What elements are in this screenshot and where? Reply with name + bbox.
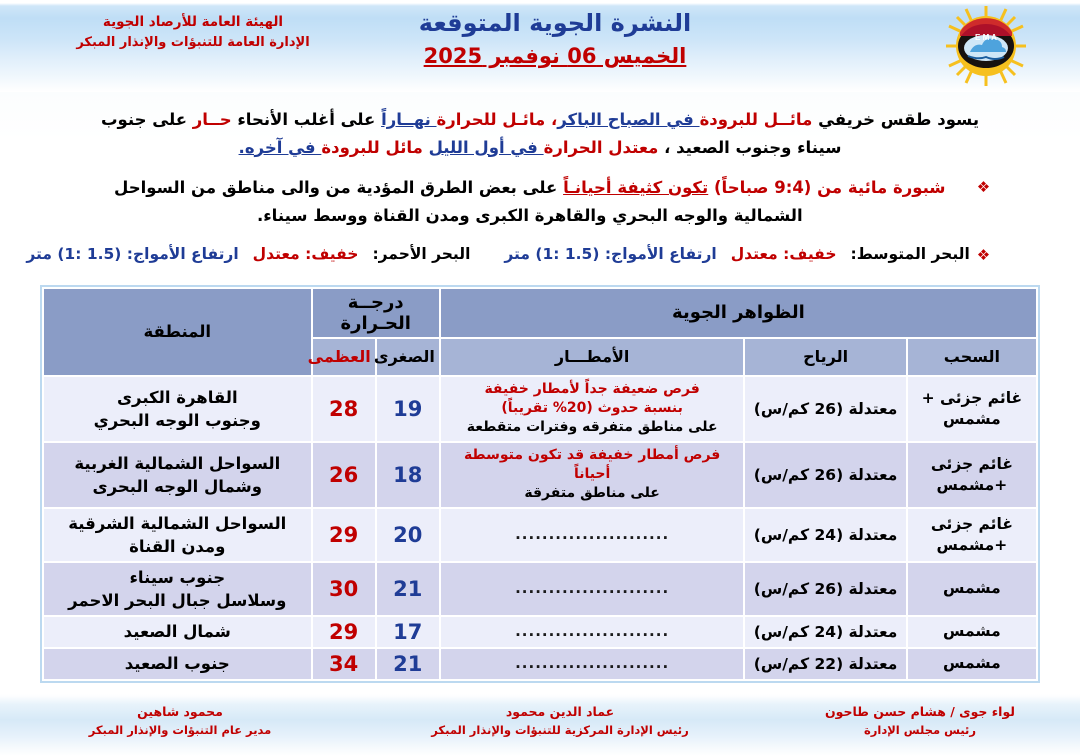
region-line-2: ومدن القناة (129, 537, 225, 556)
header-temperature: درجــة الحـرارة (313, 289, 439, 337)
cell-max-temp: 26 (313, 443, 375, 507)
gen-seg-12: في آخره. (239, 138, 322, 157)
gen-seg-4: ، مائـل للحرارة (437, 110, 558, 129)
central-head-name: عماد الدين محمود (395, 703, 725, 722)
region-line-1: جنوب سيناء (129, 568, 225, 587)
rain-line-2: بنسبة حدوث (20% تقريباً) (445, 399, 740, 418)
gen-seg-10: في أول الليل (429, 138, 544, 157)
cell-region: القاهرة الكبرى وجنوب الوجه البحري (44, 377, 311, 441)
gen-seg-1: يسود طقس خريفي (812, 110, 979, 129)
cell-wind: معتدلة (26 كم/س) (745, 377, 905, 441)
med-sea-state: خفيف: معتدل (731, 245, 837, 263)
region-line-1: القاهرة الكبرى (117, 388, 238, 407)
cell-region: جنوب الصعيد (44, 649, 311, 679)
red-wave-label: ارتفاع الأمواج: (127, 245, 239, 263)
header-min-temp: الصغرى (377, 339, 439, 375)
region-line-1: شمال الصعيد (124, 622, 231, 641)
region-line-2: وشمال الوجه البحرى (93, 477, 263, 496)
cell-clouds: غائم جزئى +مشمس (908, 509, 1036, 561)
gen-seg-3: في الصباح الباكر (557, 110, 699, 129)
header-max-temp: العظمى (313, 339, 375, 375)
rain-dots: ....................... (515, 622, 669, 640)
table-row: غائم جزئى +مشمس معتدلة (26 كم/س) فرص أمط… (44, 443, 1036, 507)
header-clouds: السحب (908, 339, 1036, 375)
table-row: غائم جزئى + مشمس معتدلة (26 كم/س) فرص ضع… (44, 377, 1036, 441)
organization-block: الهيئة العامة للأرصاد الجوية الإدارة الع… (48, 12, 338, 53)
cell-rain: فرص أمطار خفيفة قد تكون متوسطة أحياناً ع… (441, 443, 744, 507)
med-wave-value: (1.5 :1) متر (504, 245, 599, 263)
page-title: النشرة الجوية المتوقعة (390, 8, 720, 39)
rain-line-1: فرص أمطار خفيفة قد تكون متوسطة أحياناً (445, 446, 740, 485)
gen-seg-9: معتدل الحرارة (544, 138, 659, 157)
cell-clouds: غائم جزئى +مشمس (908, 443, 1036, 507)
cell-wind: معتدلة (22 كم/س) (745, 649, 905, 679)
rain-line-1: فرص ضعيفة جداً لأمطار خفيفة (445, 380, 740, 399)
cell-region: جنوب سيناء وسلاسل جبال البحر الاحمر (44, 563, 311, 615)
clouds-line-2: مشمس (943, 410, 1001, 428)
med-wave-label: ارتفاع الأمواج: (605, 245, 717, 263)
cell-region: شمال الصعيد (44, 617, 311, 647)
general-forecast-paragraph: يسود طقس خريفي مائــل للبرودة في الصباح … (96, 106, 984, 161)
region-line-1: السواحل الشمالية الشرقية (68, 514, 286, 533)
fog-seg-1: شبورة مائية من (9:4 صباحاً) (708, 178, 945, 197)
header-wind: الرياح (745, 339, 905, 375)
cell-max-temp: 28 (313, 377, 375, 441)
clouds-line-1: غائم جزئى + (922, 389, 1022, 407)
clouds-line-1: غائم جزئى (931, 455, 1013, 473)
forecast-table-body: غائم جزئى + مشمس معتدلة (26 كم/س) فرص ضع… (44, 377, 1036, 679)
gen-seg-5: نهــاراً (381, 110, 436, 129)
signature-forecast-director: محمود شاهين مدير عام التنبؤات والإنذار ا… (30, 703, 330, 739)
header-rain: الأمطـــار (441, 339, 744, 375)
gen-seg-11: مائل للبرودة (321, 138, 428, 157)
table-row: مشمس معتدلة (24 كم/س) ..................… (44, 617, 1036, 647)
page-footer: لواء جوى / هشام حسن طاحون رئيس مجلس الإد… (0, 694, 1080, 756)
gen-seg-2: مائــل للبرودة (700, 110, 813, 129)
table-header-group-row: الظواهر الجوية درجــة الحـرارة المنطقة (44, 289, 1036, 337)
cell-wind: معتدلة (24 كم/س) (745, 509, 905, 561)
signature-central-head: عماد الدين محمود رئيس الإدارة المركزية ل… (395, 703, 725, 739)
forecast-table-container: الظواهر الجوية درجــة الحـرارة المنطقة ا… (40, 285, 1040, 683)
cell-wind: معتدلة (24 كم/س) (745, 617, 905, 647)
cell-min-temp: 21 (377, 649, 439, 679)
cell-region: السواحل الشمالية الشرقية ومدن القناة (44, 509, 311, 561)
cell-max-temp: 29 (313, 509, 375, 561)
red-sea-label: البحر الأحمر: (372, 245, 470, 263)
region-line-2: وجنوب الوجه البحري (94, 411, 261, 430)
cell-min-temp: 18 (377, 443, 439, 507)
cell-clouds: غائم جزئى + مشمس (908, 377, 1036, 441)
rain-line-3: على مناطق متفرقه وفترات متقطعة (445, 418, 740, 437)
table-row: غائم جزئى +مشمس معتدلة (24 كم/س) .......… (44, 509, 1036, 561)
cell-wind: معتدلة (26 كم/س) (745, 563, 905, 615)
header-region: المنطقة (44, 289, 311, 375)
fog-warning-row: ❖ شبورة مائية من (9:4 صباحاً) تكون كثيفة… (40, 174, 1040, 229)
cell-rain: ....................... (441, 617, 744, 647)
cell-min-temp: 19 (377, 377, 439, 441)
cell-min-temp: 20 (377, 509, 439, 561)
region-line-1: جنوب الصعيد (125, 654, 230, 673)
forecast-director-title: مدير عام التنبؤات والإنذار المبكر (30, 722, 330, 739)
cell-clouds: مشمس (908, 563, 1036, 615)
cell-rain: ....................... (441, 509, 744, 561)
forecast-director-name: محمود شاهين (30, 703, 330, 722)
rain-line-3: على مناطق متفرقة (445, 484, 740, 503)
signature-chairman: لواء جوى / هشام حسن طاحون رئيس مجلس الإد… (790, 703, 1050, 739)
cell-min-temp: 21 (377, 563, 439, 615)
bulletin-content: يسود طقس خريفي مائــل للبرودة في الصباح … (40, 92, 1040, 683)
cell-wind: معتدلة (26 كم/س) (745, 443, 905, 507)
cell-min-temp: 17 (377, 617, 439, 647)
bullet-diamond-icon: ❖ (977, 174, 990, 201)
cell-clouds: مشمس (908, 649, 1036, 679)
red-wave-value: (1.5 :1) متر (26, 245, 121, 263)
bullet-diamond-icon: ❖ (977, 242, 990, 269)
rain-dots: ....................... (515, 579, 669, 597)
clouds-line-1: مشمس (943, 654, 1001, 672)
sea-state-text: البحر المتوسط:خفيف: معتدلارتفاع الأمواج:… (90, 242, 970, 268)
ema-sun-cloud-logo-icon: E M A (944, 4, 1028, 88)
forecast-table: الظواهر الجوية درجــة الحـرارة المنطقة ا… (42, 287, 1038, 681)
sea-state-row: ❖ البحر المتوسط:خفيف: معتدلارتفاع الأموا… (40, 242, 1040, 269)
clouds-line-2: +مشمس (937, 536, 1008, 554)
clouds-line-1: مشمس (943, 579, 1001, 597)
rain-dots: ....................... (515, 654, 669, 672)
gen-seg-7: حــار (193, 110, 232, 129)
bulletin-title-block: النشرة الجوية المتوقعة الخميس 06 نوفمبر … (390, 8, 720, 72)
table-row: مشمس معتدلة (22 كم/س) ..................… (44, 649, 1036, 679)
cell-region: السواحل الشمالية الغربية وشمال الوجه الب… (44, 443, 311, 507)
rain-dots: ....................... (515, 525, 669, 543)
organization-name: الهيئة العامة للأرصاد الجوية (48, 12, 338, 33)
clouds-line-1: غائم جزئى (931, 515, 1013, 533)
clouds-line-1: مشمس (943, 622, 1001, 640)
med-sea-label: البحر المتوسط: (851, 245, 970, 263)
bulletin-date: الخميس 06 نوفمبر 2025 (390, 41, 720, 71)
page-banner: E M A النشرة الجوية المتوقعة الخميس 06 ن… (0, 0, 1080, 92)
cell-clouds: مشمس (908, 617, 1036, 647)
cell-rain: ....................... (441, 563, 744, 615)
chairman-title: رئيس مجلس الإدارة (790, 722, 1050, 739)
chairman-name: لواء جوى / هشام حسن طاحون (790, 703, 1050, 722)
region-line-2: وسلاسل جبال البحر الاحمر (68, 591, 286, 610)
fog-warning-text: شبورة مائية من (9:4 صباحاً) تكون كثيفة أ… (90, 174, 970, 229)
region-line-1: السواحل الشمالية الغربية (74, 454, 280, 473)
clouds-line-2: +مشمس (937, 476, 1008, 494)
weather-bulletin-page: E M A النشرة الجوية المتوقعة الخميس 06 ن… (0, 0, 1080, 756)
central-head-title: رئيس الإدارة المركزية للتنبؤات والإنذار … (395, 722, 725, 739)
cell-rain: ....................... (441, 649, 744, 679)
svg-text:E M A: E M A (975, 33, 997, 42)
department-name: الإدارة العامة للتنبؤات والإنذار المبكر (48, 33, 338, 53)
cell-max-temp: 29 (313, 617, 375, 647)
cell-max-temp: 34 (313, 649, 375, 679)
gen-seg-6: على أغلب الأنحاء (232, 110, 381, 129)
header-weather-phenomena: الظواهر الجوية (441, 289, 1036, 337)
cell-rain: فرص ضعيفة جداً لأمطار خفيفة بنسبة حدوث (… (441, 377, 744, 441)
fog-seg-2: تكون كثيفة أحيانـاً (563, 178, 708, 197)
table-row: مشمس معتدلة (26 كم/س) ..................… (44, 563, 1036, 615)
red-sea-state: خفيف: معتدل (253, 245, 359, 263)
cell-max-temp: 30 (313, 563, 375, 615)
